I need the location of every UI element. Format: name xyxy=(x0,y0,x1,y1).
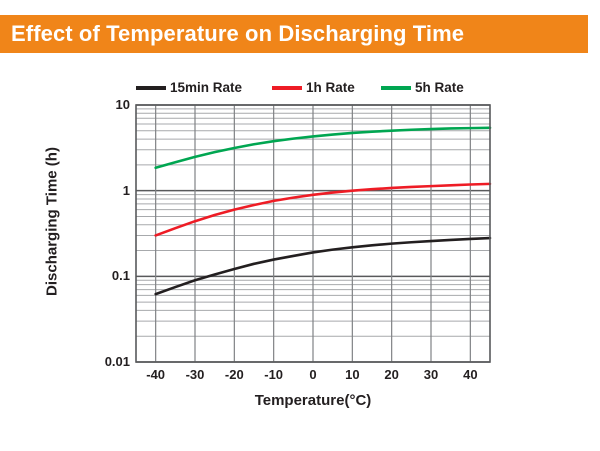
y-tick-label: 0.01 xyxy=(90,354,130,369)
x-tick-label: 20 xyxy=(372,367,412,382)
chart-container: 15min Rate 1h Rate 5h Rate 0.010.1110 -4… xyxy=(0,53,600,451)
x-tick-label: -20 xyxy=(214,367,254,382)
x-tick-label: -10 xyxy=(254,367,294,382)
series-line-15min-rate xyxy=(156,238,490,294)
y-tick-label: 1 xyxy=(90,183,130,198)
x-axis-title: Temperature(°C) xyxy=(136,392,490,409)
x-tick-label: -40 xyxy=(136,367,176,382)
series-line-5h-rate xyxy=(156,128,490,168)
title-bar: Effect of Temperature on Discharging Tim… xyxy=(0,15,588,53)
x-tick-label: 10 xyxy=(332,367,372,382)
x-tick-label: -30 xyxy=(175,367,215,382)
y-tick-label: 10 xyxy=(90,97,130,112)
grid-vertical-lines xyxy=(156,105,471,362)
x-tick-label: 0 xyxy=(293,367,333,382)
x-tick-label: 40 xyxy=(450,367,490,382)
y-tick-label: 0.1 xyxy=(90,268,130,283)
y-axis-title: Discharging Time (h) xyxy=(44,132,61,312)
series-lines xyxy=(156,128,490,294)
x-tick-label: 30 xyxy=(411,367,451,382)
page-title: Effect of Temperature on Discharging Tim… xyxy=(0,21,464,47)
